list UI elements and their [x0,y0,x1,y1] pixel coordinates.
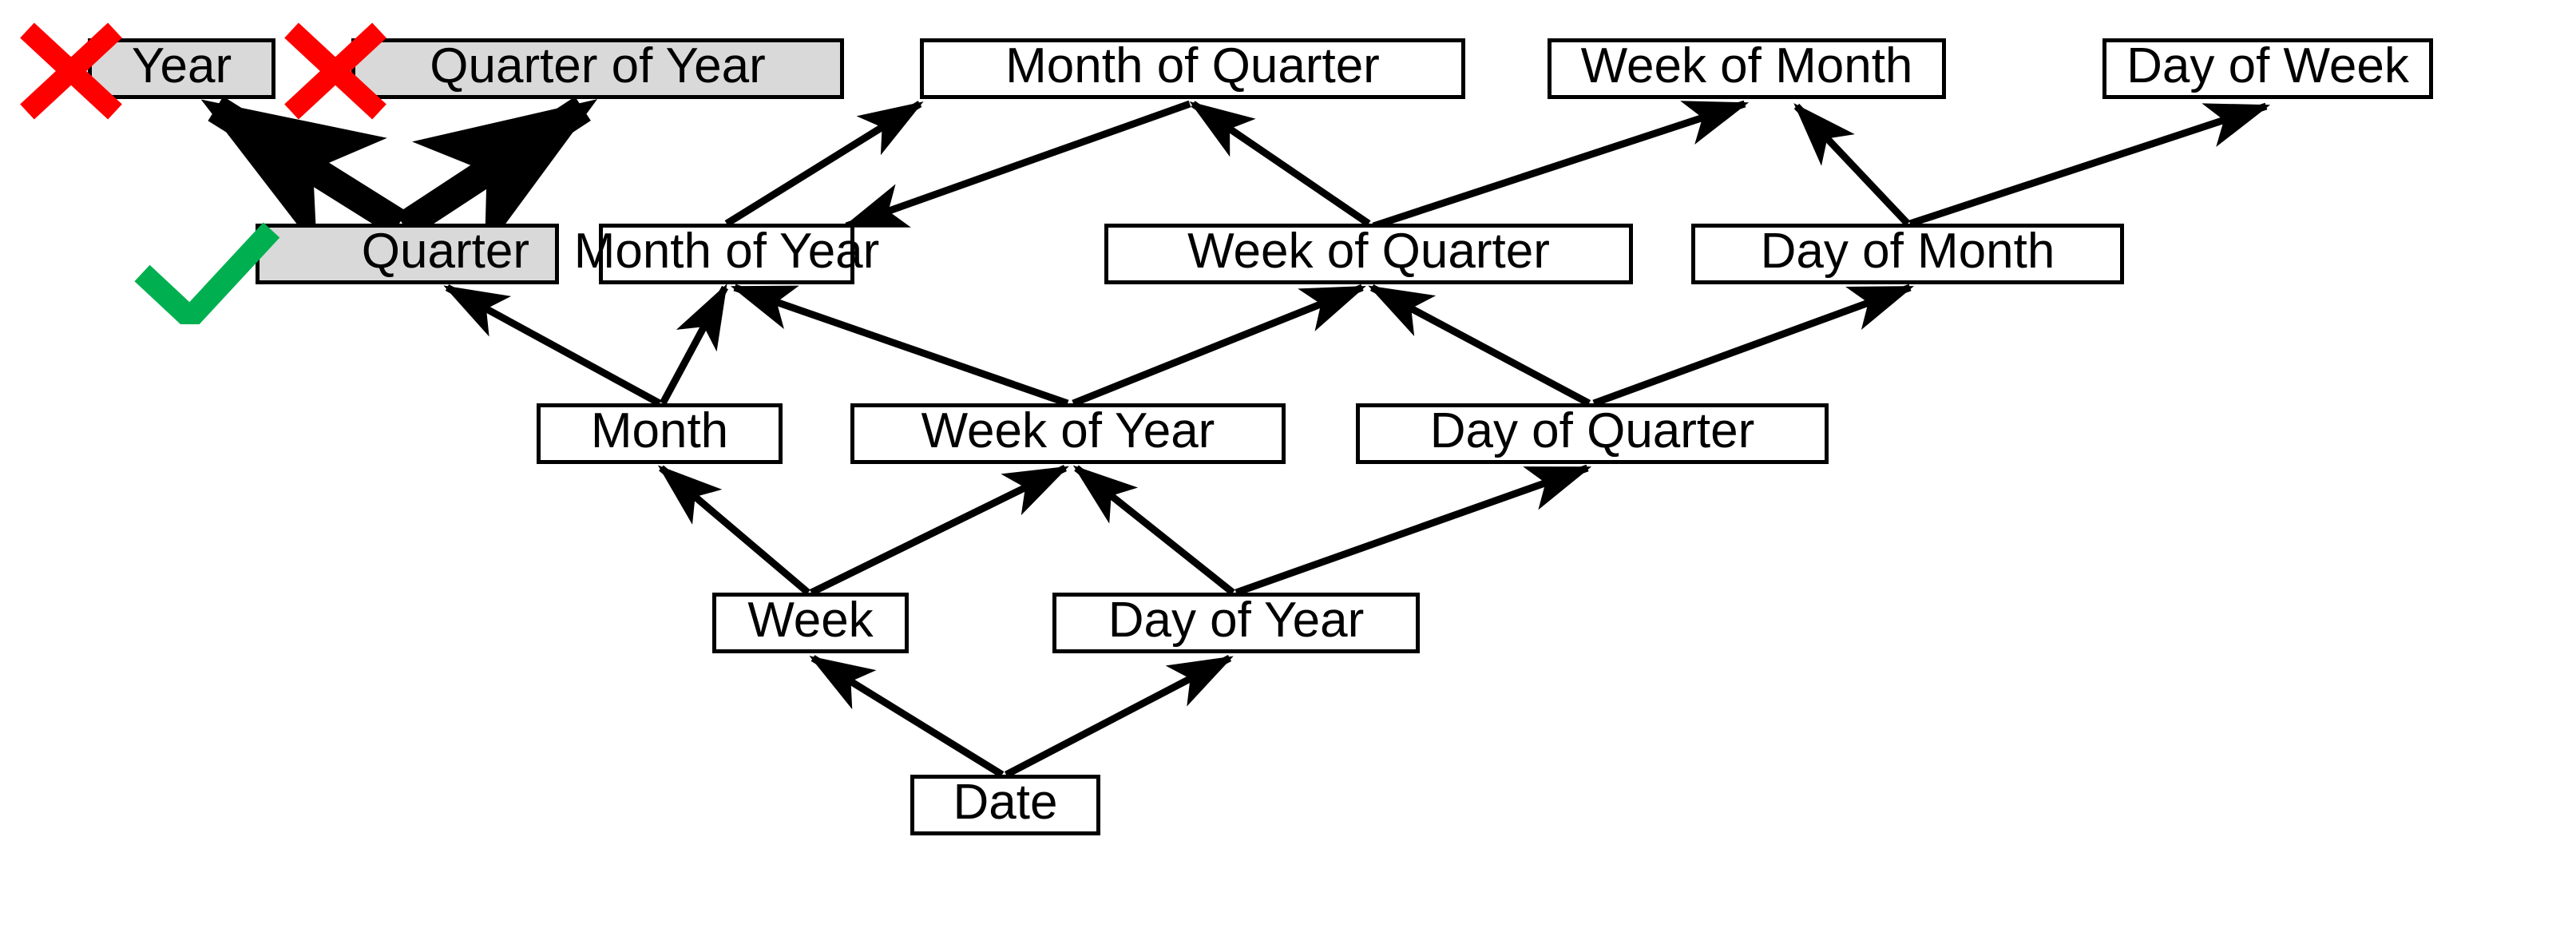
node-week-of-month[interactable]: Week of Month [1548,38,1946,99]
node-date[interactable]: Date [910,775,1100,835]
edge-day-of-quarter-to-day-of-month [1594,288,1910,403]
edge-week-of-quarter-to-week-of-month [1373,104,1745,226]
node-week-of-month-label: Week of Month [1581,42,1913,96]
node-week-of-quarter-label: Week of Quarter [1187,227,1550,281]
edge-month-of-quarter-to-month-of-year [846,104,1190,226]
node-quarter-label: Quarter [362,227,529,281]
edge-quarter-to-quarter-of-year [404,109,583,226]
edge-month-to-quarter [447,288,660,403]
node-quarter-of-year[interactable]: Quarter of Year [351,38,844,99]
edge-week-of-quarter-to-month-of-quarter [1193,104,1369,224]
node-week[interactable]: Week [712,593,909,653]
node-week-of-quarter[interactable]: Week of Quarter [1104,224,1633,284]
edge-day-of-year-to-week-of-year [1076,468,1233,593]
node-day-of-quarter-label: Day of Quarter [1430,407,1755,461]
date-hierarchy-diagram: Year Quarter of Year Month of Quarter We… [0,0,2576,952]
node-day-of-week-label: Day of Week [2126,42,2409,96]
node-quarter-of-year-label: Quarter of Year [430,42,766,96]
node-week-of-year-label: Week of Year [921,407,1215,461]
node-day-of-quarter[interactable]: Day of Quarter [1356,403,1829,464]
node-week-of-year[interactable]: Week of Year [850,403,1286,464]
node-date-label: Date [953,778,1058,832]
edge-day-of-month-to-day-of-week [1910,106,2266,224]
edge-week-to-month [661,468,808,593]
edge-month-to-month-of-year [663,288,725,403]
edge-date-to-week [813,658,1002,775]
edge-day-of-year-to-day-of-quarter [1236,468,1587,593]
edge-day-of-quarter-to-week-of-quarter [1372,288,1589,403]
node-month-of-year[interactable]: Month of Year [599,224,854,284]
node-day-of-month-label: Day of Month [1761,227,2055,281]
node-day-of-month[interactable]: Day of Month [1691,224,2124,284]
edge-week-of-year-to-week-of-quarter [1073,288,1362,403]
node-month-label: Month [591,407,728,461]
edge-month-of-year-to-quarter-of-year [727,104,920,224]
node-week-label: Week [747,596,873,650]
thick-edges [216,109,583,226]
node-day-of-year-label: Day of Year [1108,596,1365,650]
node-month[interactable]: Month [537,403,783,464]
node-year[interactable]: Year [88,38,275,99]
edge-day-of-month-to-week-of-month [1797,106,1908,224]
edge-date-to-day-of-year [1006,658,1230,775]
node-day-of-week[interactable]: Day of Week [2102,38,2433,99]
node-quarter[interactable]: Quarter [256,224,559,284]
node-year-label: Year [132,42,232,96]
node-month-of-quarter[interactable]: Month of Quarter [920,38,1465,99]
node-month-of-year-label: Month of Year [574,227,880,281]
edge-quarter-to-year [216,109,399,224]
edge-layer [0,0,2576,952]
node-day-of-year[interactable]: Day of Year [1052,593,1420,653]
edge-week-of-year-to-month-of-year [735,288,1068,403]
edge-week-to-week-of-year [811,468,1065,593]
node-month-of-quarter-label: Month of Quarter [1005,42,1380,96]
